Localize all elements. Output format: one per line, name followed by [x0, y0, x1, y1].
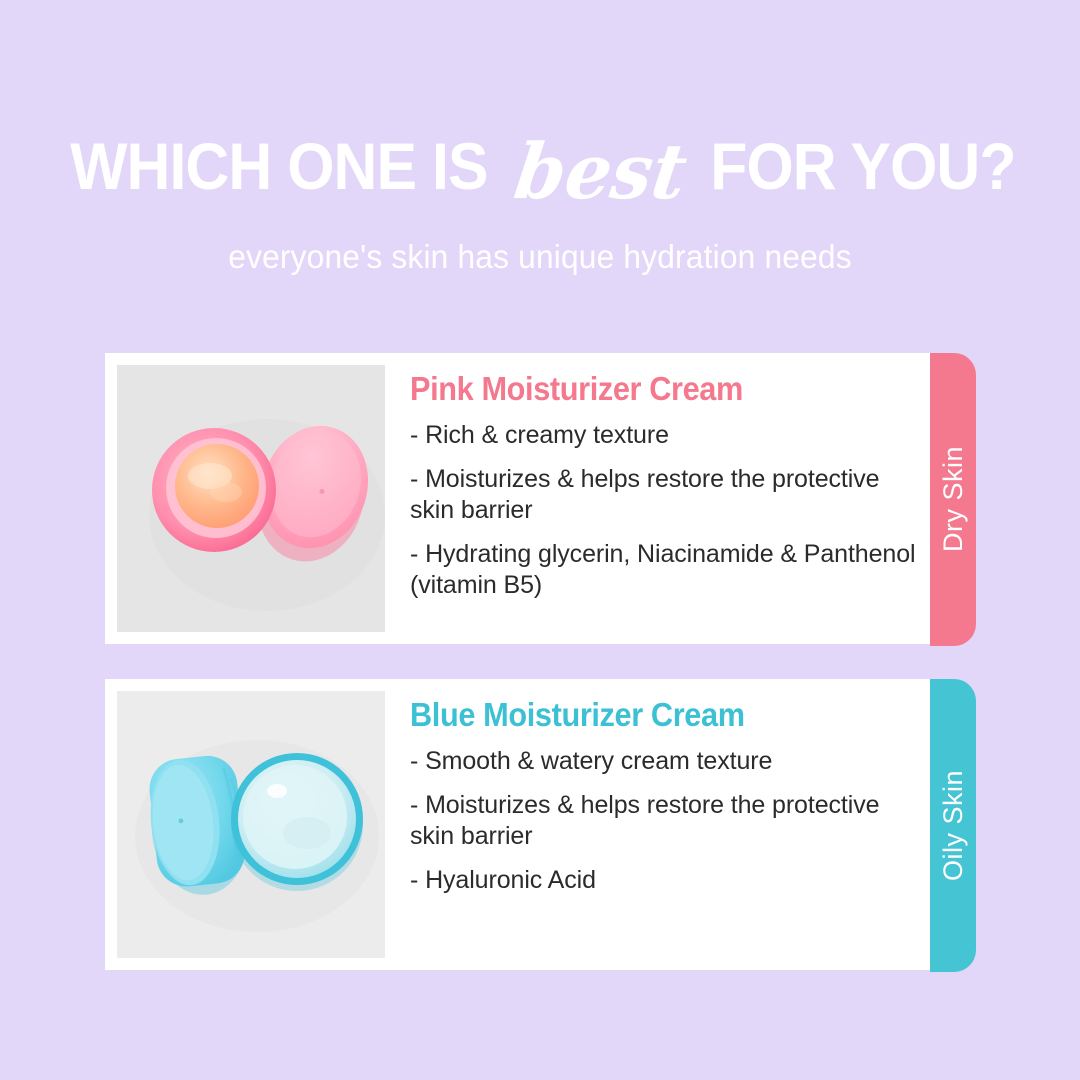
page-title: WHICH ONE IS best FOR YOU? — [0, 128, 1080, 204]
product-bullet: - Smooth & watery cream texture — [410, 746, 918, 777]
product-bullet: - Hyaluronic Acid — [410, 865, 918, 896]
skin-type-tab-label: Oily Skin — [938, 770, 969, 881]
product-bullet: - Moisturizes & helps restore the protec… — [410, 790, 918, 852]
product-body-blue: Blue Moisturizer Cream - Smooth & watery… — [385, 691, 918, 896]
product-bullet: - Moisturizes & helps restore the protec… — [410, 464, 918, 526]
title-script-word: best — [505, 134, 698, 210]
header: WHICH ONE IS best FOR YOU? everyone's sk… — [0, 0, 1080, 276]
pink-cream-jar-icon — [117, 365, 385, 632]
title-part-one: WHICH ONE IS — [70, 133, 487, 199]
product-bullet: - Rich & creamy texture — [410, 420, 918, 451]
skin-type-tab-dry[interactable]: Dry Skin — [930, 353, 976, 646]
product-image-pink — [117, 365, 385, 632]
page-subtitle: everyone's skin has unique hydration nee… — [22, 238, 1059, 276]
product-image-blue — [117, 691, 385, 958]
product-title-blue: Blue Moisturizer Cream — [410, 696, 882, 734]
title-part-two: FOR YOU? — [710, 133, 1015, 199]
skin-type-tab-label: Dry Skin — [938, 446, 969, 552]
product-card-pink[interactable]: Pink Moisturizer Cream - Rich & creamy t… — [105, 353, 930, 644]
product-body-pink: Pink Moisturizer Cream - Rich & creamy t… — [385, 365, 918, 601]
skin-type-tab-oily[interactable]: Oily Skin — [930, 679, 976, 972]
blue-cream-jar-icon — [117, 691, 385, 958]
product-bullet: - Hydrating glycerin, Niacinamide & Pant… — [410, 539, 918, 601]
product-title-pink: Pink Moisturizer Cream — [410, 370, 882, 408]
product-card-blue[interactable]: Blue Moisturizer Cream - Smooth & watery… — [105, 679, 930, 970]
